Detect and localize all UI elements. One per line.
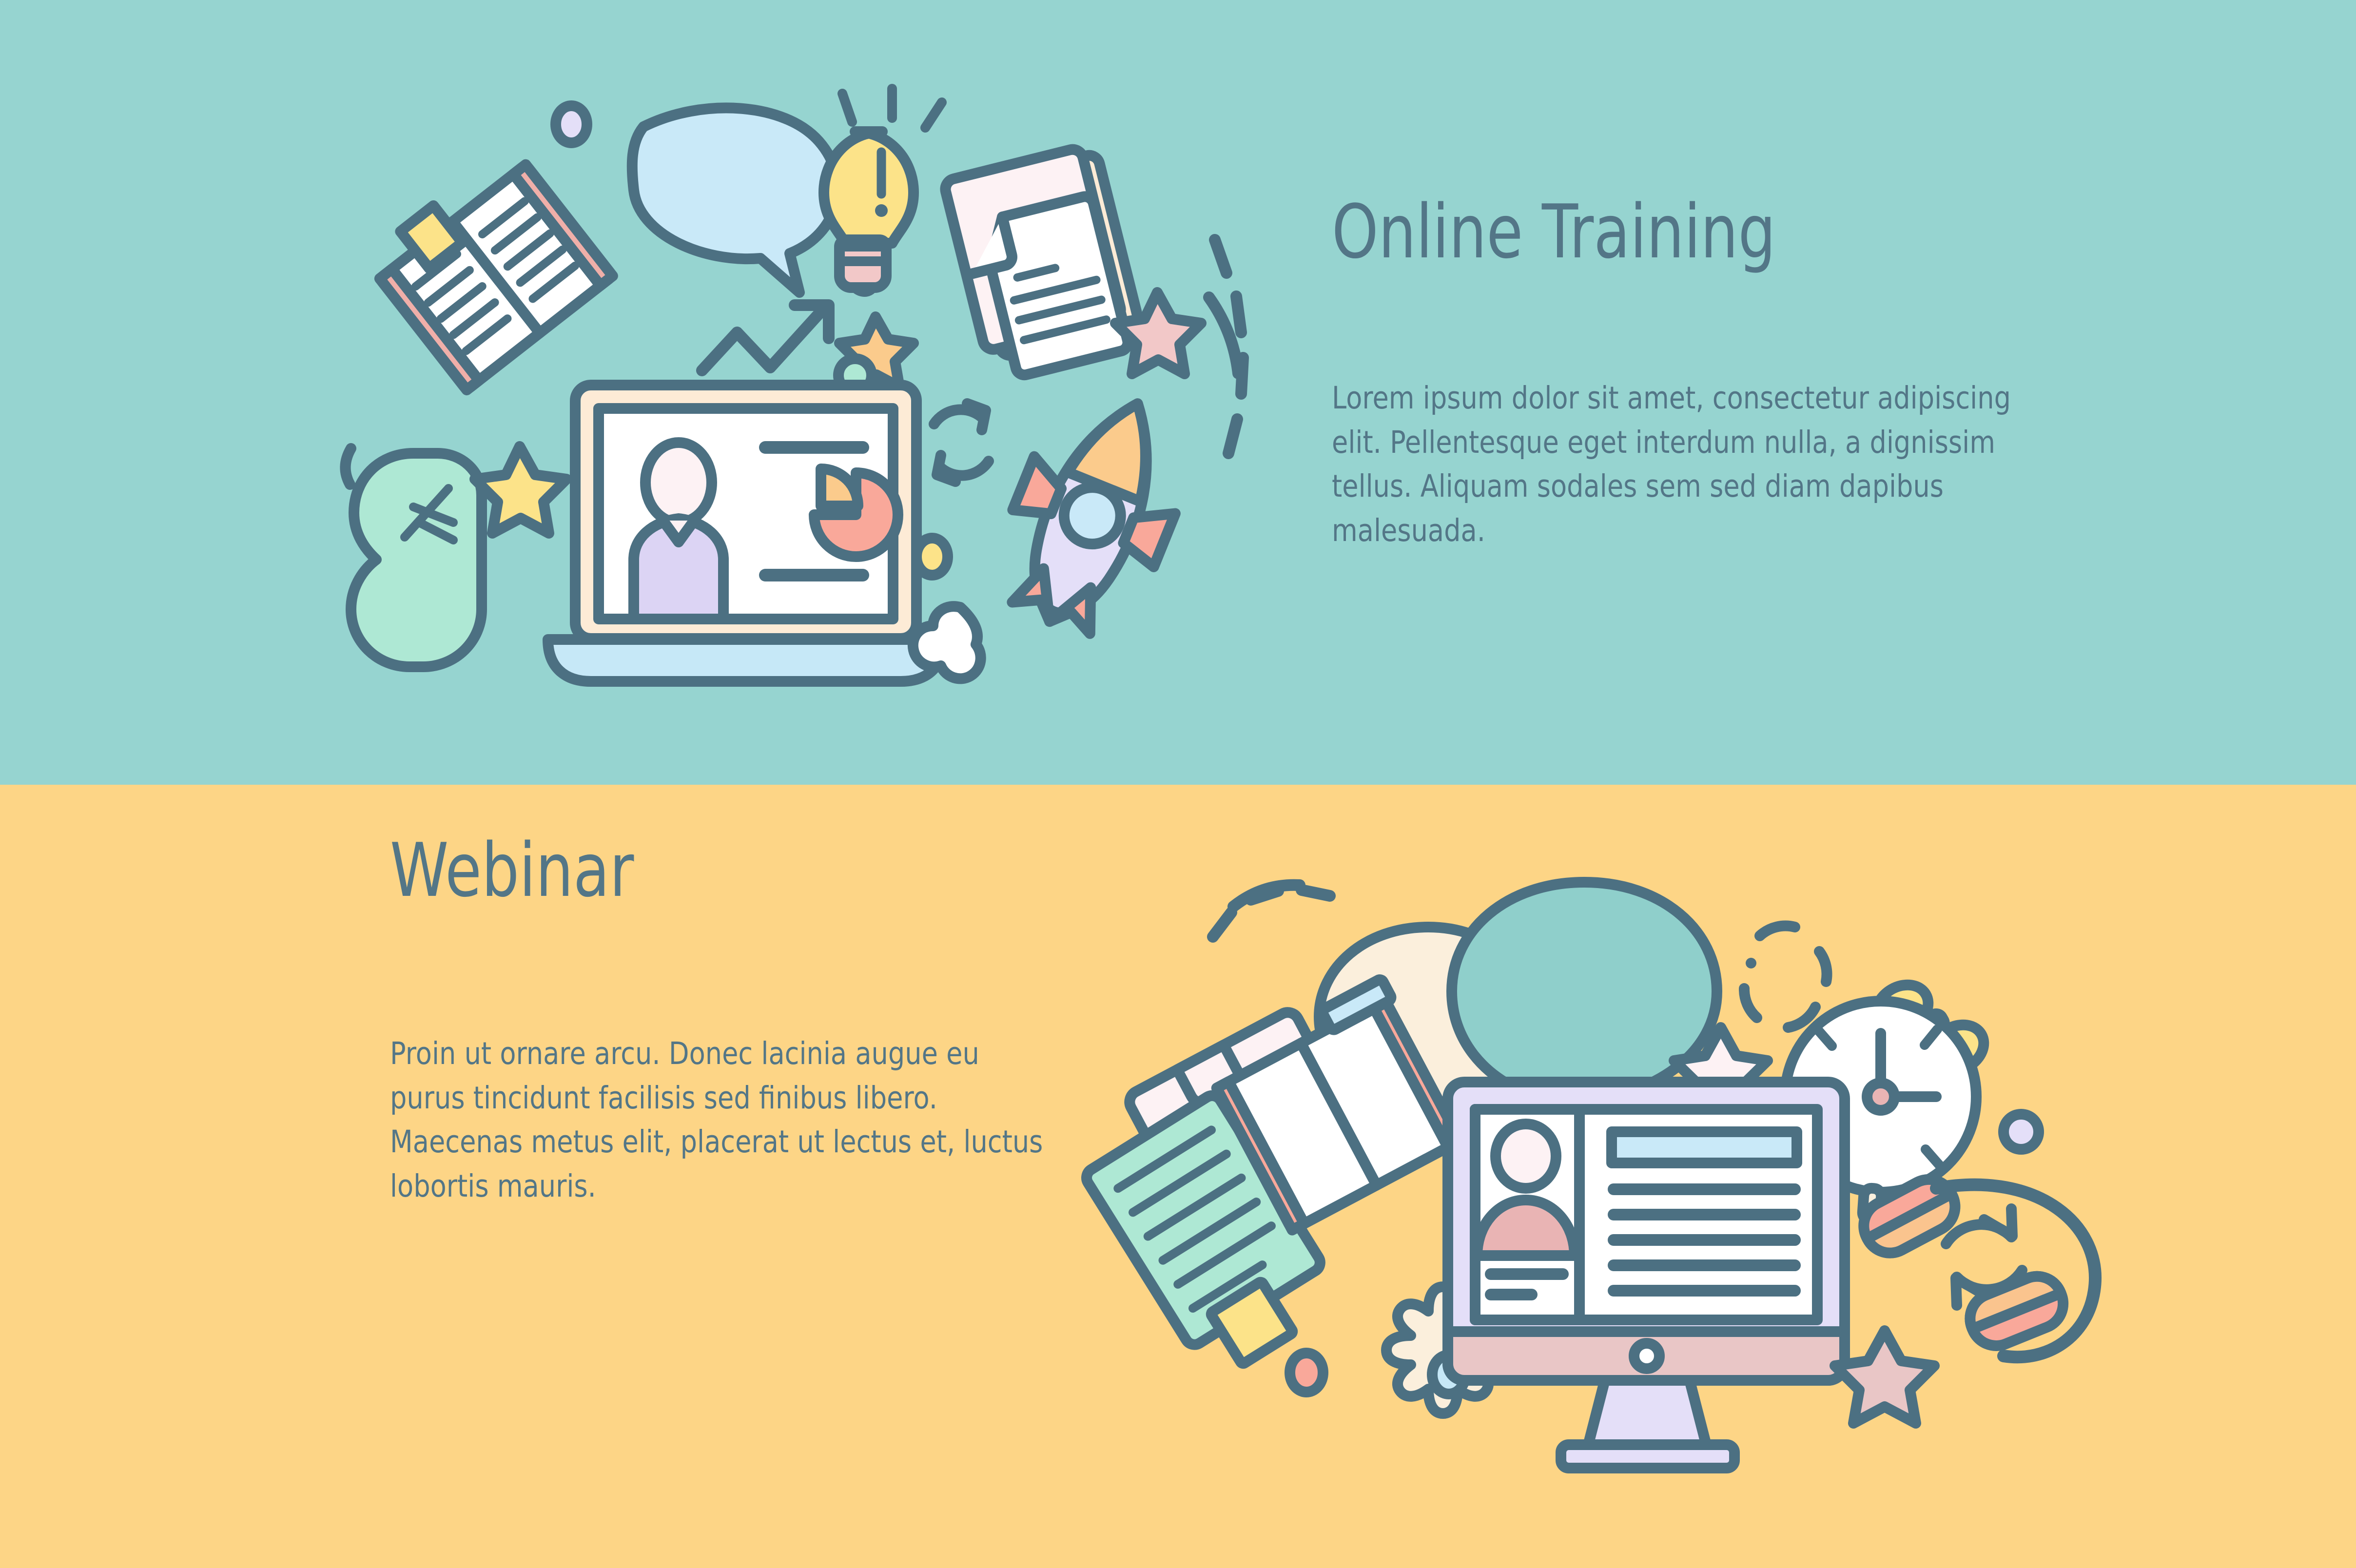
documents-stack-icon bbox=[943, 144, 1145, 383]
laptop-presentation-icon bbox=[548, 385, 944, 681]
lightbulb-idea-icon bbox=[824, 89, 942, 291]
dashed-circle-icon bbox=[1744, 926, 1827, 1027]
leaf-sprout-icon bbox=[351, 453, 482, 667]
webinar-illustration bbox=[1087, 872, 2150, 1487]
open-book-icon bbox=[365, 145, 613, 390]
webinar-text: Webinar Proin ut ornare arcu. Donec laci… bbox=[390, 833, 1038, 1209]
speech-bubble-icon bbox=[632, 108, 837, 292]
banner-page: Online Training Lorem ipsum dolor sit am… bbox=[0, 0, 2356, 1568]
dotted-arc-icon bbox=[1210, 885, 1330, 937]
online-training-text: Online Training Lorem ipsum dolor sit am… bbox=[1332, 195, 2024, 553]
dot-icon bbox=[2004, 1114, 2039, 1149]
star-icon bbox=[475, 446, 566, 533]
page-title: Webinar bbox=[390, 833, 909, 908]
banner-online-training: Online Training Lorem ipsum dolor sit am… bbox=[0, 0, 2356, 785]
dot-icon bbox=[916, 538, 948, 575]
monitor-profile-icon bbox=[1448, 1082, 1845, 1468]
banner-webinar: Webinar Proin ut ornare arcu. Donec laci… bbox=[0, 785, 2356, 1568]
refresh-arrows-icon bbox=[934, 404, 989, 482]
rocket-icon bbox=[979, 375, 1208, 650]
growth-arrow-icon bbox=[702, 305, 829, 370]
body-paragraph: Proin ut ornare arcu. Donec lacinia augu… bbox=[390, 1032, 1044, 1209]
dotted-arc-icon bbox=[1209, 240, 1243, 465]
smoke-puff-icon bbox=[913, 606, 981, 678]
online-training-illustration bbox=[331, 112, 1292, 697]
page-title: Online Training bbox=[1332, 195, 1886, 269]
body-paragraph: Lorem ipsum dolor sit amet, consectetur … bbox=[1332, 376, 2044, 553]
dot-icon bbox=[1290, 1353, 1323, 1392]
dot-icon bbox=[556, 106, 587, 143]
